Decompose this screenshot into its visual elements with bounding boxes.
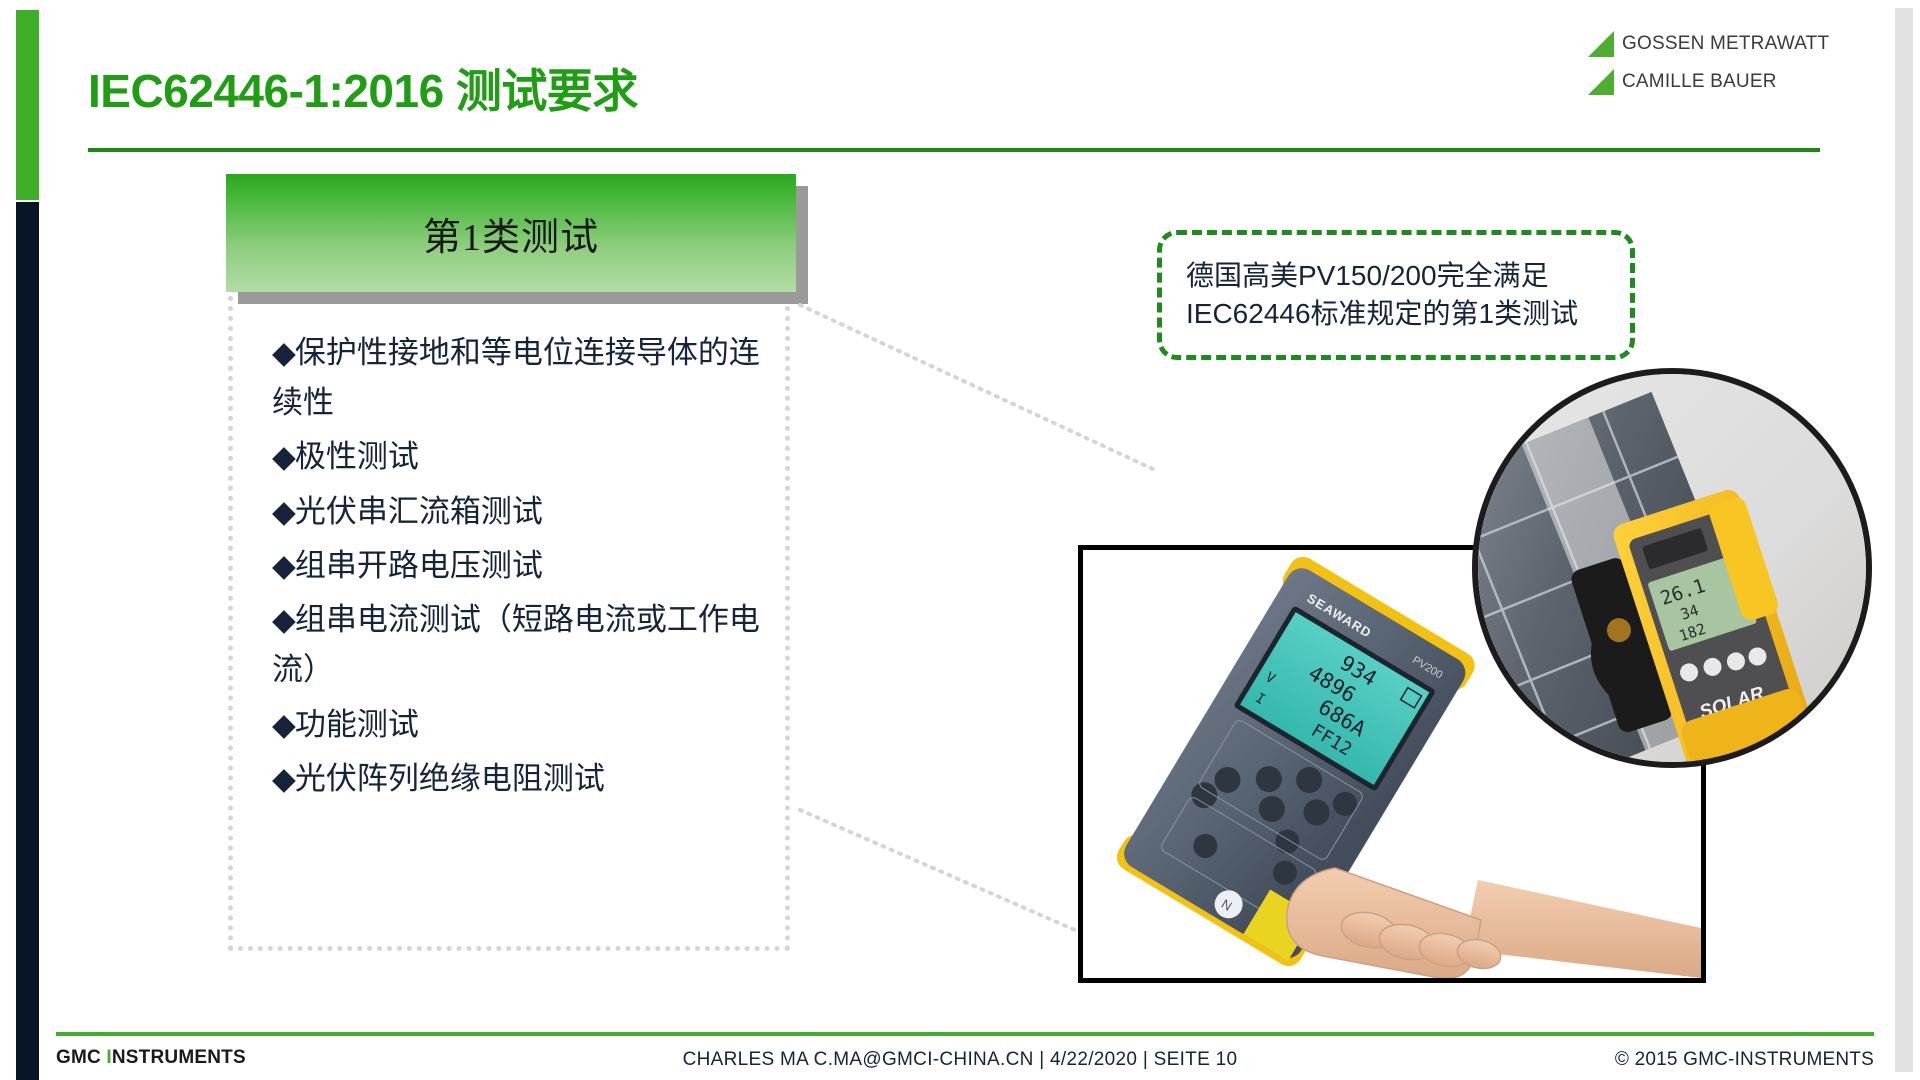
product-photo-inset-solar: 26.1 34 182 SOLAR — [1472, 368, 1872, 768]
list-item: ◆光伏阵列绝缘电阻测试 — [272, 754, 772, 804]
list-item: ◆组串开路电压测试 — [272, 541, 772, 591]
diamond-bullet-icon: ◆ — [272, 335, 295, 370]
list-item-label: 组串开路电压测试 — [295, 548, 543, 583]
list-item: ◆光伏串汇流箱测试 — [272, 487, 772, 537]
callout-text: 德国高美PV150/200完全满足 IEC62446标准规定的第1类测试 — [1162, 257, 1578, 333]
list-item-label: 组串电流测试（短路电流或工作电流） — [272, 602, 760, 687]
green-triangle-icon — [1588, 69, 1614, 95]
diamond-bullet-icon: ◆ — [272, 761, 295, 796]
page-title: IEC62446-1:2016 测试要求 — [88, 55, 638, 121]
list-item: ◆极性测试 — [272, 432, 772, 482]
diamond-bullet-icon: ◆ — [272, 707, 295, 742]
brand-row-camille: CAMILLE BAUER — [1588, 66, 1848, 98]
list-item-label: 极性测试 — [295, 439, 419, 474]
list-item: ◆组串电流测试（短路电流或工作电流） — [272, 595, 772, 695]
green-triangle-icon — [1588, 31, 1614, 57]
list-item-label: 光伏串汇流箱测试 — [295, 494, 543, 529]
diamond-bullet-icon: ◆ — [272, 548, 295, 583]
brand-row-gossen: GOSSEN METRAWATT — [1588, 28, 1848, 60]
list-item: ◆功能测试 — [272, 700, 772, 750]
callout-box: 德国高美PV150/200完全满足 IEC62446标准规定的第1类测试 — [1157, 230, 1635, 360]
list-item-label: 保护性接地和等电位连接导体的连续性 — [272, 335, 760, 420]
category-header-banner: 第1类测试 — [226, 174, 796, 292]
brand-name-camille-bauer: CAMILLE BAUER — [1622, 71, 1777, 93]
right-edge-strip — [1895, 8, 1913, 1072]
category-header-label: 第1类测试 — [423, 206, 599, 261]
list-item-label: 光伏阵列绝缘电阻测试 — [295, 761, 605, 796]
diamond-bullet-icon: ◆ — [272, 602, 295, 637]
footer-rule — [56, 1032, 1874, 1036]
test-requirements-list: ◆保护性接地和等电位连接导体的连续性◆极性测试◆光伏串汇流箱测试◆组串开路电压测… — [272, 328, 772, 808]
list-item-label: 功能测试 — [295, 707, 419, 742]
left-accent-bar-dark — [16, 202, 39, 1080]
diamond-bullet-icon: ◆ — [272, 494, 295, 529]
title-underline-rule — [88, 148, 1820, 152]
solar-panel-device-illustration: 26.1 34 182 SOLAR — [1478, 374, 1866, 762]
list-item: ◆保护性接地和等电位连接导体的连续性 — [272, 328, 772, 428]
brand-logo: GOSSEN METRAWATT CAMILLE BAUER — [1588, 28, 1848, 104]
brand-name-gossen-metrawatt: GOSSEN METRAWATT — [1622, 33, 1829, 55]
left-accent-bar-green — [16, 10, 39, 200]
footer-copyright: © 2015 GMC-INSTRUMENTS — [1615, 1049, 1874, 1071]
diamond-bullet-icon: ◆ — [272, 439, 295, 474]
